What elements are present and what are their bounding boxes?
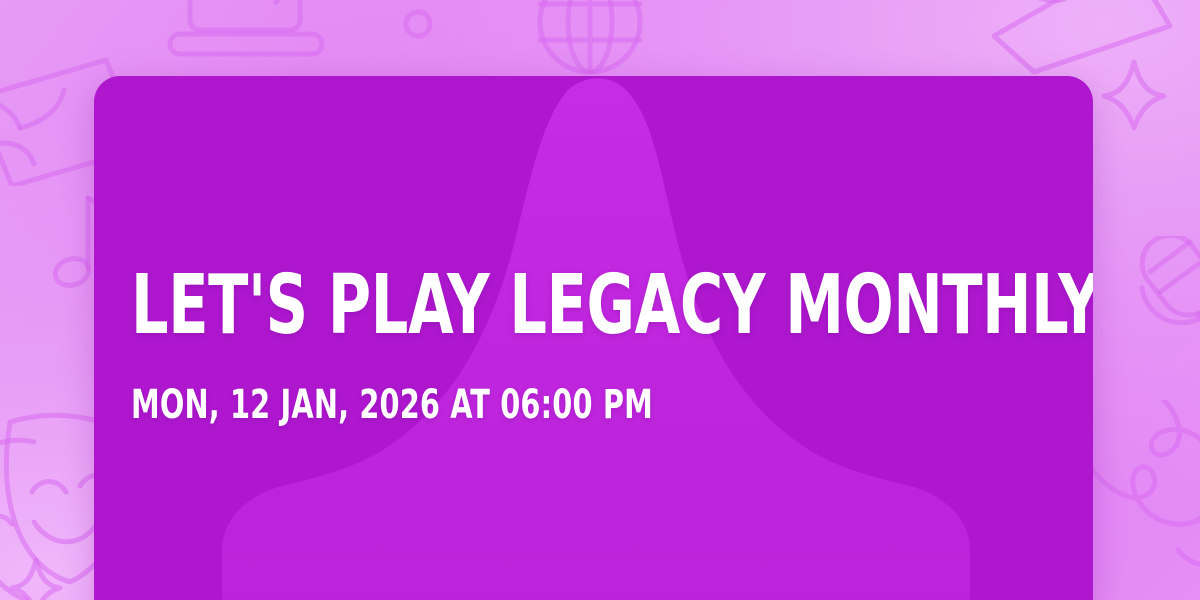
music-note-icon (38, 190, 98, 300)
ticket-icon (980, 0, 1180, 80)
sparkle-icon (8, 556, 64, 600)
laptop-icon (162, 0, 332, 74)
microphone-icon (1134, 236, 1200, 366)
event-title: LET'S PLAY LEGACY MONTHLY (131, 267, 869, 344)
globe-icon (534, 0, 646, 84)
circle-dot-icon (400, 6, 436, 42)
card-content: LET'S PLAY LEGACY MONTHLY MON, 12 JAN, 2… (131, 76, 1053, 600)
sparkle-icon (1098, 56, 1170, 134)
event-datetime: MON, 12 JAN, 2026 AT 06:00 PM (131, 385, 869, 425)
event-promo-banner: LET'S PLAY LEGACY MONTHLY MON, 12 JAN, 2… (0, 0, 1200, 600)
event-card[interactable]: LET'S PLAY LEGACY MONTHLY MON, 12 JAN, 2… (94, 76, 1093, 600)
